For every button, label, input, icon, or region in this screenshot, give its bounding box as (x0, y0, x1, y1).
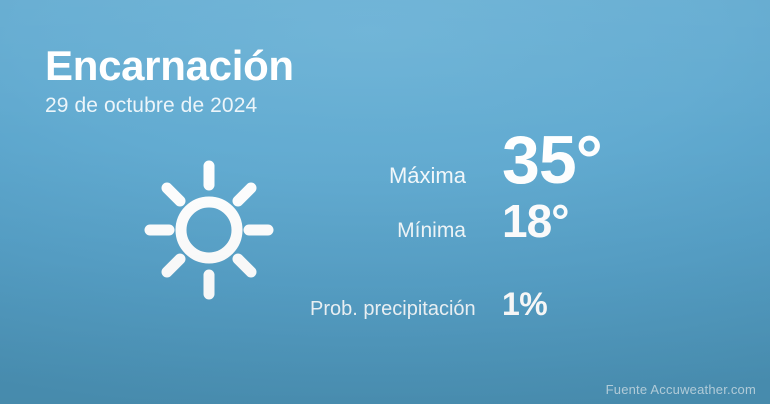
weather-forecast-card: Encarnación 29 de octubre de 2024 Máxima (0, 0, 770, 404)
location-header: Encarnación 29 de octubre de 2024 (45, 42, 294, 118)
readings-list: Máxima 35° Mínima 18° Prob. precipitació… (310, 126, 730, 328)
city-name: Encarnación (45, 42, 294, 90)
source-credit: Fuente Accuweather.com (606, 382, 756, 397)
reading-row-precipitation: Prob. precipitación 1% (310, 288, 730, 328)
reading-row-max: Máxima 35° (310, 126, 730, 198)
precipitation-value: 1% (502, 288, 547, 320)
min-temp-label: Mínima (310, 219, 502, 243)
precipitation-label: Prob. precipitación (310, 298, 502, 321)
max-temp-value: 35° (502, 126, 602, 194)
min-temp-value: 18° (502, 198, 569, 244)
reading-row-min: Mínima 18° (310, 198, 730, 288)
sun-icon (144, 160, 276, 300)
forecast-date: 29 de octubre de 2024 (45, 94, 294, 118)
max-temp-label: Máxima (310, 163, 502, 189)
